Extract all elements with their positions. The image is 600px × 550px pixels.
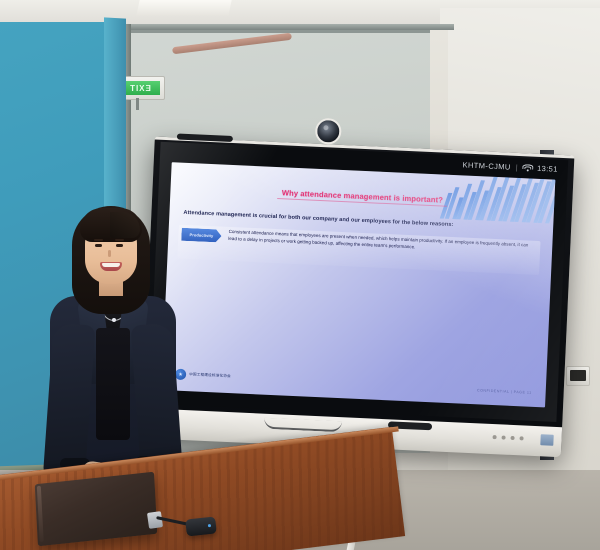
- network-name-label: KHTM-CJMU: [462, 160, 511, 171]
- glass-frame-top: [124, 24, 454, 30]
- slide-reason-row: Productivity Consistent attendance means…: [177, 225, 540, 275]
- display-panel: Why attendance management is important? …: [141, 136, 574, 455]
- mouth: [100, 262, 122, 271]
- exit-sign-post: [136, 98, 139, 110]
- control-button[interactable]: [519, 436, 523, 440]
- wifi-icon: [523, 164, 532, 171]
- eye-left: [95, 244, 102, 247]
- ceiling-light: [136, 0, 231, 16]
- eyebrow-left: [94, 239, 103, 241]
- meeting-room-photo: EXIT: [0, 0, 600, 550]
- brand-badge: [540, 434, 553, 446]
- eye-right: [116, 244, 123, 247]
- control-button[interactable]: [493, 435, 497, 439]
- control-button[interactable]: [501, 435, 505, 439]
- interactive-flat-panel-display[interactable]: Why attendance management is important? …: [141, 118, 584, 467]
- laptop[interactable]: [35, 472, 158, 547]
- eyebrow-right: [115, 239, 124, 241]
- nose: [108, 250, 111, 257]
- puck-led-icon: [208, 524, 211, 527]
- status-separator: |: [516, 162, 519, 171]
- wireless-presentation-puck[interactable]: [185, 516, 217, 536]
- presentation-slide[interactable]: Why attendance management is important? …: [161, 162, 555, 407]
- presenter-hair-front: [80, 208, 142, 242]
- exit-sign-label: EXIT: [120, 81, 160, 95]
- display-screen[interactable]: Why attendance management is important? …: [149, 142, 568, 422]
- reason-body-text: Consistent attendance means that employe…: [228, 229, 536, 256]
- control-button[interactable]: [510, 436, 514, 440]
- slide-footer-text: CONFIDENTIAL | PAGE 11: [477, 388, 532, 394]
- webcam-icon: [315, 118, 342, 145]
- blazer-opening: [96, 328, 130, 440]
- clock-label: 13:51: [537, 163, 558, 173]
